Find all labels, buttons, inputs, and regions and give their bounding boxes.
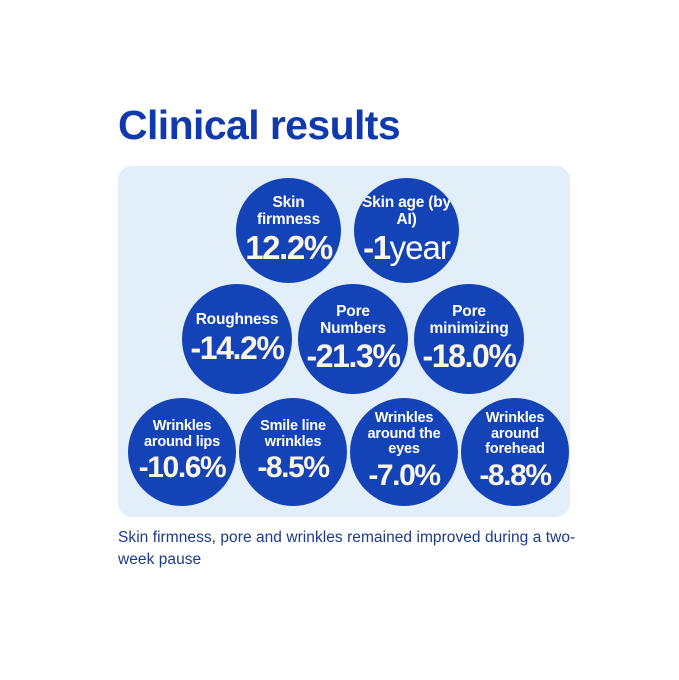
metric-bubble-roughness: Roughness -14.2% (182, 284, 292, 394)
metric-bubble-wrinkles-around-forehead: Wrinkles around forehead -8.8% (461, 398, 569, 506)
metric-value-unit: year (390, 229, 450, 266)
metrics-panel: Skin firmness 12.2% Skin age (by AI) -1y… (118, 166, 570, 517)
metric-label: Wrinkles around the eyes (350, 411, 458, 458)
metric-bubble-pore-numbers: Pore Numbers -21.3% (298, 284, 408, 394)
metric-value: -7.0% (368, 461, 439, 491)
metric-row-3: Wrinkles around lips -10.6% Smile line w… (128, 398, 569, 506)
caption-text: Skin firmness, pore and wrinkles remaine… (118, 527, 588, 572)
metric-bubble-pore-minimizing: Pore minimizing -18.0% (414, 284, 524, 394)
metric-value: -1year (363, 231, 450, 264)
metric-bubble-skin-age: Skin age (by AI) -1year (354, 178, 459, 283)
metric-value: -8.8% (479, 461, 550, 491)
metric-label: Skin age (by AI) (354, 195, 459, 228)
metric-bubble-smile-line-wrinkles: Smile line wrinkles -8.5% (239, 398, 347, 506)
metric-value: -18.0% (423, 340, 516, 372)
metric-value-number: -1 (363, 229, 390, 266)
metric-label: Skin firmness (236, 195, 341, 228)
metric-value: -10.6% (139, 453, 226, 483)
page-title: Clinical results (118, 104, 400, 147)
metric-label: Roughness (191, 312, 284, 329)
metric-value: -14.2% (191, 332, 284, 364)
metric-label: Wrinkles around lips (128, 419, 236, 450)
metric-row-2: Roughness -14.2% Pore Numbers -21.3% Por… (182, 284, 524, 394)
metric-bubble-skin-firmness: Skin firmness 12.2% (236, 178, 341, 283)
metric-label: Pore Numbers (298, 304, 408, 337)
metric-label: Smile line wrinkles (239, 419, 347, 450)
metric-row-1: Skin firmness 12.2% Skin age (by AI) -1y… (236, 178, 459, 283)
metric-label: Wrinkles around forehead (461, 411, 569, 458)
metric-bubble-wrinkles-around-eyes: Wrinkles around the eyes -7.0% (350, 398, 458, 506)
metric-label: Pore minimizing (414, 304, 524, 337)
metric-bubble-wrinkles-around-lips: Wrinkles around lips -10.6% (128, 398, 236, 506)
metric-value: 12.2% (245, 231, 332, 264)
metric-value: -8.5% (257, 453, 328, 483)
clinical-results-infographic: Clinical results Skin firmness 12.2% Ski… (0, 0, 679, 680)
metric-value: -21.3% (307, 340, 400, 372)
